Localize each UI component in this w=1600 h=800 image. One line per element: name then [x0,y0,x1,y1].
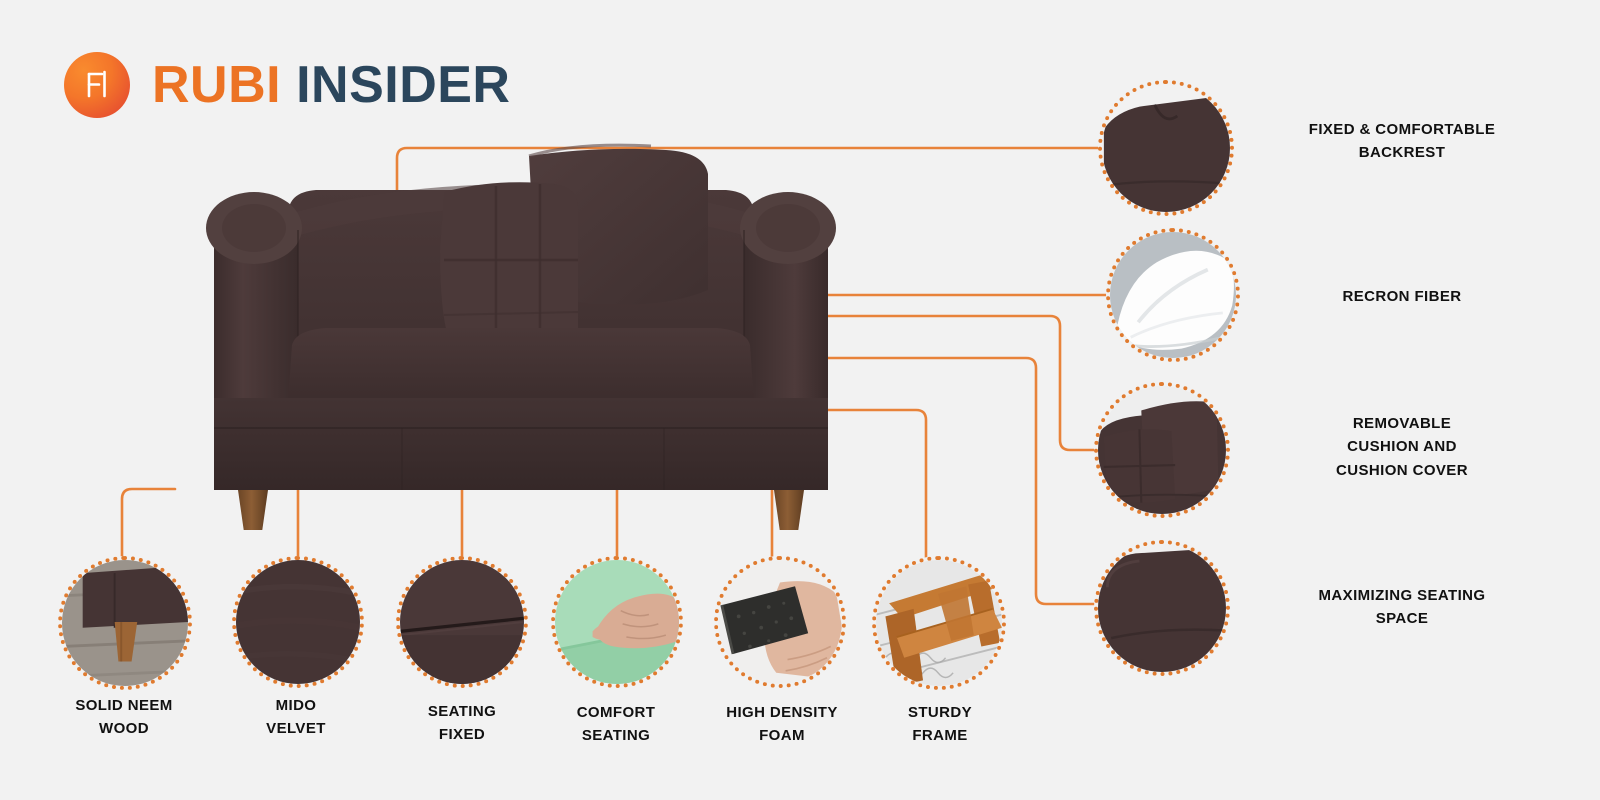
callout-thumb-seating-fixed[interactable] [396,556,528,688]
callout-thumb-maximizing-seating-space[interactable] [1094,540,1230,676]
callout-thumb-high-density-foam[interactable] [714,556,846,688]
callout-thumb-recron-fiber[interactable] [1106,228,1240,362]
sofa-illustration [196,140,846,530]
page-title: RUBI INSIDER [152,59,510,111]
callout-thumb-mido-velvet[interactable] [232,556,364,688]
callout-thumb-solid-neem-wood[interactable] [58,556,192,690]
brand-header: RUBI INSIDER [64,52,510,118]
fi-monogram-badge-icon [64,52,130,118]
callout-label-solid-neem-wood: SOLID NEEM WOOD [24,694,224,741]
callout-thumb-comfort-seating[interactable] [551,556,683,688]
callout-thumb-removable-cushion[interactable] [1094,382,1230,518]
callout-label-recron-fiber: RECRON FIBER [1252,285,1552,308]
callout-thumb-sturdy-frame[interactable] [872,556,1006,690]
brand-name-secondary [281,56,296,114]
callout-label-sturdy-frame: STURDY FRAME [840,701,1040,748]
callout-label-maximizing-seating-space: MAXIMIZING SEATING SPACE [1252,584,1552,631]
brand-name-suffix: INSIDER [296,56,510,114]
brand-name-primary: RUBI [152,56,281,114]
callout-label-fixed-comfortable-backrest: FIXED & COMFORTABLE BACKREST [1252,118,1552,165]
wire-solid-neem-wood [122,489,175,560]
infographic-canvas: RUBI INSIDER [0,0,1600,800]
callout-thumb-fixed-comfortable-backrest[interactable] [1098,80,1234,216]
callout-label-removable-cushion: REMOVABLE CUSHION AND CUSHION COVER [1252,412,1552,482]
